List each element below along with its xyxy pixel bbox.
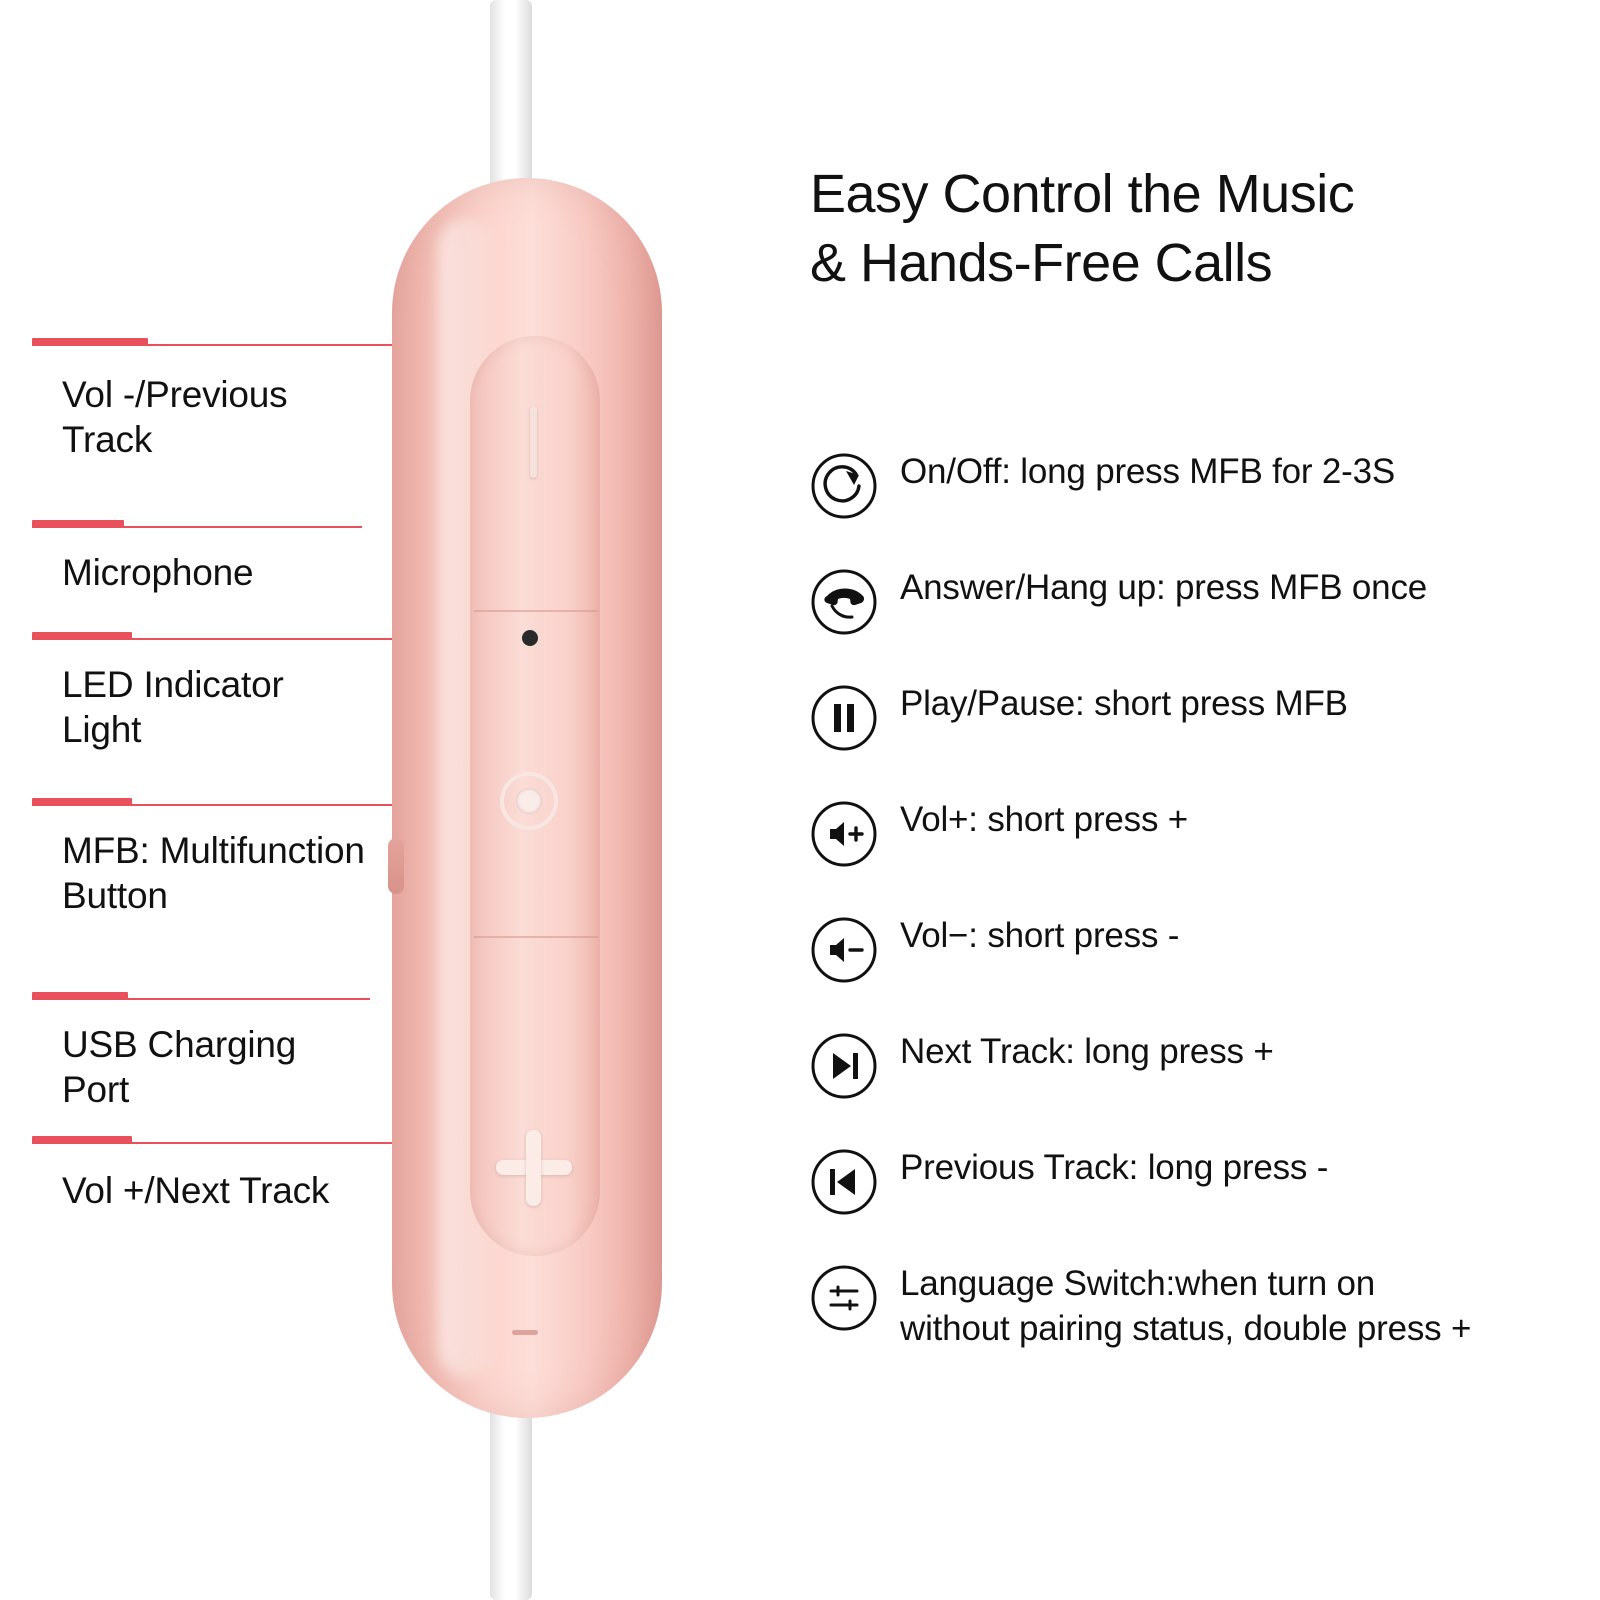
page-title: Easy Control the Music & Hands-Free Call… bbox=[810, 160, 1600, 298]
cable-lower bbox=[490, 1390, 532, 1600]
previous-track-icon bbox=[810, 1148, 878, 1216]
feature-row: Language Switch:when turn on without pai… bbox=[810, 1258, 1600, 1398]
panel-divider-lower bbox=[474, 936, 598, 938]
feature-text: Previous Track: long press - bbox=[900, 1146, 1328, 1191]
language-switch-icon bbox=[810, 1264, 878, 1332]
bottom-notch bbox=[512, 1330, 538, 1335]
volume-down-button-icon[interactable] bbox=[530, 406, 537, 478]
mfb-button-core-icon[interactable] bbox=[516, 788, 542, 814]
callout-label: Microphone bbox=[62, 550, 253, 595]
phone-handset-icon bbox=[810, 568, 878, 636]
remote-body bbox=[392, 178, 662, 1418]
leader-line-usb bbox=[32, 998, 370, 1000]
power-icon bbox=[810, 452, 878, 520]
feature-text: Answer/Hang up: press MFB once bbox=[900, 566, 1427, 611]
right-panel: Easy Control the Music & Hands-Free Call… bbox=[810, 0, 1600, 1600]
feature-text: Next Track: long press + bbox=[900, 1030, 1274, 1075]
feature-row: Previous Track: long press - bbox=[810, 1142, 1600, 1258]
volume-up-button-icon-v[interactable] bbox=[526, 1130, 541, 1206]
feature-text: Play/Pause: short press MFB bbox=[900, 682, 1348, 727]
feature-row: Play/Pause: short press MFB bbox=[810, 678, 1600, 794]
feature-row: Next Track: long press + bbox=[810, 1026, 1600, 1142]
callout-label: LED Indicator Light bbox=[62, 662, 284, 752]
usb-charging-port-icon bbox=[388, 838, 404, 894]
leader-line-microphone bbox=[32, 526, 362, 528]
feature-row: Answer/Hang up: press MFB once bbox=[810, 562, 1600, 678]
next-track-icon bbox=[810, 1032, 878, 1100]
feature-text: Language Switch:when turn on without pai… bbox=[900, 1262, 1471, 1352]
feature-row: Vol+: short press + bbox=[810, 794, 1600, 910]
callout-label: USB Charging Port bbox=[62, 1022, 296, 1112]
feature-row: Vol−: short press - bbox=[810, 910, 1600, 1026]
volume-up-icon bbox=[810, 800, 878, 868]
feature-row: On/Off: long press MFB for 2-3S bbox=[810, 446, 1600, 562]
volume-down-icon bbox=[810, 916, 878, 984]
feature-text: Vol−: short press - bbox=[900, 914, 1179, 959]
callout-label: Vol +/Next Track bbox=[62, 1168, 329, 1213]
feature-text: Vol+: short press + bbox=[900, 798, 1188, 843]
callout-label: MFB: Multifunction Button bbox=[62, 828, 365, 918]
feature-list: On/Off: long press MFB for 2-3S Answer/H… bbox=[810, 446, 1600, 1398]
callout-label: Vol -/Previous Track bbox=[62, 372, 287, 462]
pause-icon bbox=[810, 684, 878, 752]
led-indicator-icon bbox=[522, 630, 538, 646]
panel-divider-upper bbox=[474, 610, 598, 612]
feature-text: On/Off: long press MFB for 2-3S bbox=[900, 450, 1395, 495]
earphone-remote-illustration bbox=[380, 0, 670, 1600]
